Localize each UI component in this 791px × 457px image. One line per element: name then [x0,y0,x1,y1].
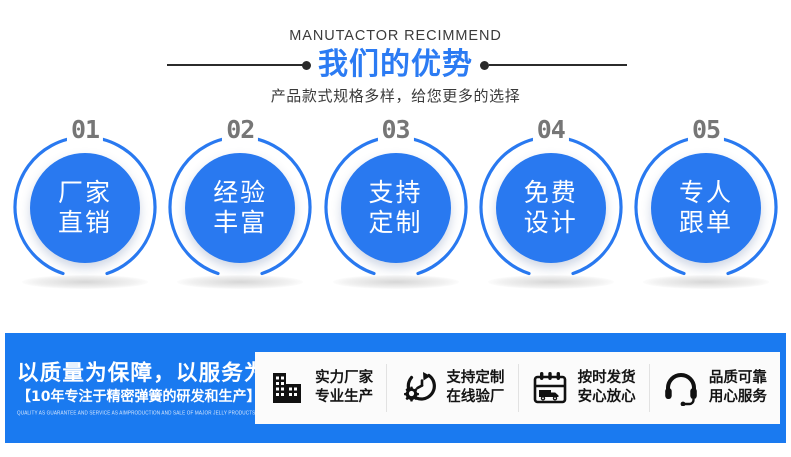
advantage-label-line1: 支持 [368,178,422,208]
advantage-label-line1: 经验 [213,178,267,208]
feature-label-line1: 支持定制 [446,370,504,386]
headset-icon [662,369,700,407]
advantage-item[interactable]: 05 专人 跟单 [633,113,779,293]
advantage-number: 03 [377,117,413,143]
feature-label-line2: 在线验厂 [446,389,504,405]
feature-label-line2: 安心放心 [578,389,636,405]
features-panel: 实力厂家 专业生产 支持定制 在线验厂 [255,352,780,424]
feature-label: 实力厂家 专业生产 [315,369,373,407]
advantage-number: 05 [688,117,724,143]
calendar-truck-icon [531,369,569,407]
header-title-row: 我们的优势 [0,48,791,82]
header-eyebrow: MANUTACTOR RECIMMEND [0,28,791,44]
advantage-disc: 专人 跟单 [651,153,761,263]
gear-clock-icon [399,369,437,407]
advantage-label-line1: 专人 [679,178,733,208]
advantage-item[interactable]: 04 免费 设计 [478,113,624,293]
advantage-item[interactable]: 02 经验 丰富 [167,113,313,293]
advantage-label-line2: 设计 [524,208,578,238]
building-icon [268,369,306,407]
advantage-label-line2: 跟单 [679,208,733,238]
header-rule-right [489,64,627,66]
advantage-disc: 支持 定制 [341,153,451,263]
advantage-number: 02 [222,117,258,143]
advantage-disc: 免费 设计 [496,153,606,263]
feature-label: 按时发货 安心放心 [578,369,636,407]
feature-label-line1: 实力厂家 [315,370,373,386]
advantage-label-line1: 厂家 [58,178,112,208]
slogan-sub: 【10年专注于精密弹簧的研发和生产】 [17,387,255,407]
slogan-main: 以质量为保障，以服务为宗旨 [17,361,255,387]
bottom-banner: 以质量为保障，以服务为宗旨 【10年专注于精密弹簧的研发和生产】 QUALITY… [5,333,786,443]
feature-label-line1: 品质可靠 [709,370,767,386]
page-title: 我们的优势 [0,48,791,82]
feature-item[interactable]: 按时发货 安心放心 [518,362,649,414]
header-subtitle: 产品款式规格多样，给您更多的选择 [0,85,791,106]
advantage-number: 04 [533,117,569,143]
feature-item[interactable]: 实力厂家 专业生产 [255,362,386,414]
slogan-english: QUALITY AS GUARANTEE AND SERVICE AS AIMP… [17,407,255,418]
advantages-row: 01 厂家 直销 02 经验 丰富 03 支持 定制 [0,113,791,303]
advantage-number: 01 [67,117,103,143]
slogan-block: 以质量为保障，以服务为宗旨 【10年专注于精密弹簧的研发和生产】 QUALITY… [5,361,255,416]
page-header: MANUTACTOR RECIMMEND 我们的优势 产品款式规格多样，给您更多… [0,0,791,115]
feature-label-line2: 专业生产 [315,389,373,405]
advantage-label-line2: 丰富 [213,208,267,238]
advantage-disc: 经验 丰富 [185,153,295,263]
advantage-item[interactable]: 03 支持 定制 [323,113,469,293]
advantage-label-line1: 免费 [524,178,578,208]
header-rule-dot-right [480,61,489,70]
feature-label-line2: 用心服务 [709,389,767,405]
feature-item[interactable]: 品质可靠 用心服务 [649,362,780,414]
feature-label: 支持定制 在线验厂 [446,369,504,407]
feature-label-line1: 按时发货 [578,370,636,386]
feature-label: 品质可靠 用心服务 [709,369,767,407]
advantage-disc: 厂家 直销 [30,153,140,263]
advantage-item[interactable]: 01 厂家 直销 [12,113,158,293]
feature-item[interactable]: 支持定制 在线验厂 [386,362,517,414]
advantage-label-line2: 直销 [58,208,112,238]
advantage-label-line2: 定制 [368,208,422,238]
